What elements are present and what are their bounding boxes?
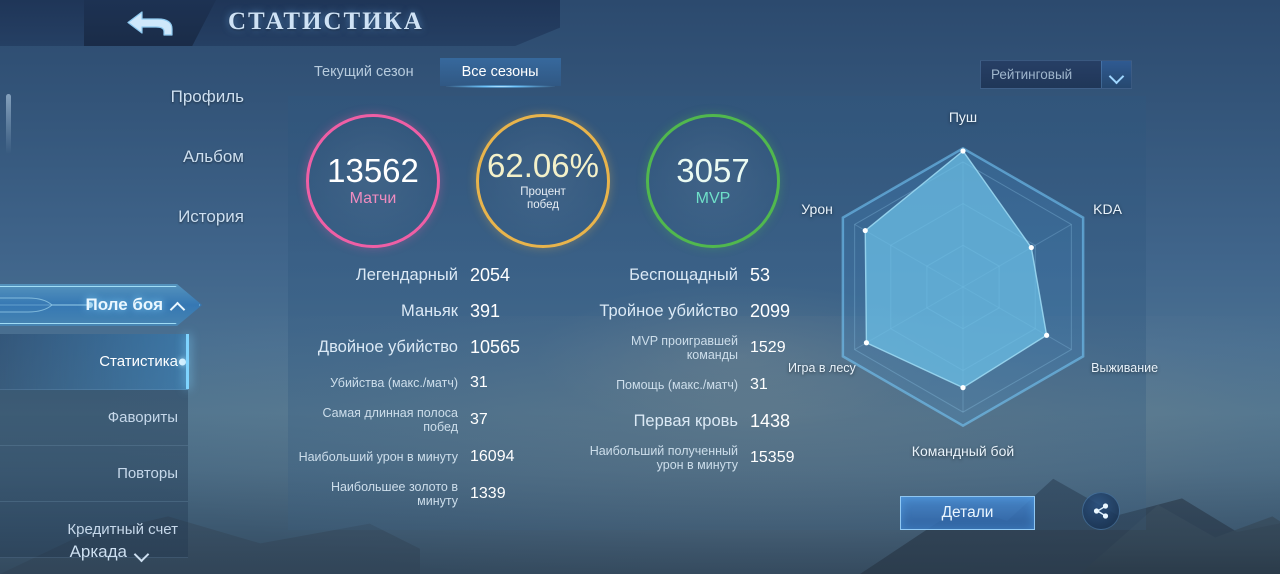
stat-value: 10565 (470, 337, 520, 358)
stat-label: Легендарный (298, 266, 470, 284)
stat-value: 16094 (470, 448, 515, 466)
stat-row: Маньяк391 (298, 298, 578, 324)
stat-label: Наибольший урон в минуту (298, 450, 470, 464)
sidebar-item-label: История (178, 207, 244, 227)
sidebar-subitem-statistics[interactable]: Статистика (0, 334, 188, 390)
stat-value: 1339 (470, 485, 506, 503)
sidebar-item-label: Профиль (171, 87, 244, 107)
summary-circles: 13562 Матчи 62.06% Процентпобед 3057 MVP (306, 114, 780, 248)
back-arrow-icon (122, 8, 178, 38)
stat-row: Двойное убийство10565 (298, 334, 578, 360)
stat-label: Наибольшее золото в минуту (298, 480, 470, 508)
game-mode-select[interactable]: Рейтинговый (980, 60, 1132, 89)
sidebar-item-label: Поле боя (85, 295, 163, 315)
stat-label: Убийства (макс./матч) (298, 376, 470, 390)
page-title: СТАТИСТИКА (228, 8, 424, 36)
season-tabs: Текущий сезон Все сезоны (292, 58, 561, 86)
stat-value: 53 (750, 265, 770, 286)
sidebar-item-profile[interactable]: Профиль (0, 82, 244, 112)
summary-circle-value: 13562 (327, 154, 419, 189)
sidebar-subitem-label: Фавориты (108, 409, 178, 426)
tab-all-seasons[interactable]: Все сезоны (440, 58, 561, 86)
radar-label-damage: Урон (788, 201, 833, 217)
summary-circle-label: MVP (696, 190, 731, 208)
sidebar-item-album[interactable]: Альбом (0, 142, 244, 172)
sidebar-item-label: Аркада (70, 542, 127, 562)
share-button[interactable] (1082, 492, 1120, 530)
chevron-down-icon (135, 546, 148, 559)
sidebar-subitem-label: Кредитный счет (67, 521, 178, 538)
stat-value: 2099 (750, 301, 790, 322)
sidebar-subitem-label: Повторы (117, 465, 178, 482)
stat-value: 2054 (470, 265, 510, 286)
chevron-down-icon[interactable] (1101, 61, 1131, 88)
share-nodes-icon (1091, 501, 1111, 521)
summary-circle-label: Матчи (350, 190, 397, 208)
summary-circle-matches: 13562 Матчи (306, 114, 440, 248)
stat-value: 31 (750, 376, 768, 394)
top-bar: СТАТИСТИКА (0, 0, 1280, 48)
stat-label: MVP проигравшей команды (578, 334, 750, 362)
sidebar-item-history[interactable]: История (0, 202, 244, 232)
stat-label: Маньяк (298, 302, 470, 320)
sidebar-submenu: Статистика Фавориты Повторы Кредитный сч… (0, 334, 188, 558)
stat-row: Убийства (макс./матч)31 (298, 370, 578, 396)
stat-value: 1529 (750, 339, 786, 357)
summary-circle-winrate: 62.06% Процентпобед (476, 114, 610, 248)
active-indicator-dot-icon (179, 358, 186, 365)
sidebar-item-arcade[interactable]: Аркада (0, 538, 244, 566)
radar-label-survival: Выживание (1091, 361, 1158, 375)
sidebar-subitem-label: Статистика (99, 353, 178, 370)
sidebar: Профиль Альбом История Поле боя Статисти… (0, 46, 262, 574)
sidebar-subitem-replays[interactable]: Повторы (0, 446, 188, 502)
summary-circle-mvp: 3057 MVP (646, 114, 780, 248)
summary-circle-value: 62.06% (487, 149, 599, 184)
stat-label: Двойное убийство (298, 338, 470, 356)
stat-label: Наибольший полученный урон в минуту (578, 444, 750, 472)
radar-label-jungling: Игра в лесу (788, 361, 835, 375)
stat-label: Тройное убийство (578, 302, 750, 320)
stat-row: Легендарный2054 (298, 262, 578, 288)
stat-row: Самая длинная полоса побед37 (298, 406, 578, 434)
stat-label: Первая кровь (578, 412, 750, 430)
radar-label-kda: KDA (1093, 201, 1122, 217)
stat-label: Помощь (макс./матч) (578, 378, 750, 392)
stat-row: Наибольшее золото в минуту1339 (298, 480, 578, 508)
radar-label-teamfight: Командный бой (912, 443, 1014, 459)
details-button-label: Детали (942, 504, 994, 522)
summary-circle-value: 3057 (676, 154, 749, 189)
stat-row: Наибольший урон в минуту16094 (298, 444, 578, 470)
radar-label-push: Пуш (949, 109, 977, 125)
sidebar-active-label-group: Поле боя (85, 284, 184, 326)
radar-svg (788, 104, 1146, 484)
chevron-up-icon (171, 299, 184, 312)
sidebar-item-battlefield[interactable]: Поле боя (0, 284, 202, 326)
stats-column-left: Легендарный2054Маньяк391Двойное убийство… (298, 262, 578, 518)
sidebar-item-label: Альбом (183, 147, 244, 167)
chevron-down-glyph (1110, 68, 1123, 81)
stat-label: Самая длинная полоса побед (298, 406, 470, 434)
tab-label: Текущий сезон (314, 64, 414, 80)
stats-columns: Легендарный2054Маньяк391Двойное убийство… (298, 262, 858, 518)
stat-value: 37 (470, 411, 488, 429)
stat-value: 31 (470, 374, 488, 392)
summary-circle-label: Процентпобед (520, 186, 566, 212)
stat-value: 391 (470, 301, 500, 322)
stat-value: 1438 (750, 411, 790, 432)
sidebar-subitem-favorites[interactable]: Фавориты (0, 390, 188, 446)
tab-label: Все сезоны (462, 64, 539, 80)
tab-current-season[interactable]: Текущий сезон (292, 58, 436, 86)
details-button[interactable]: Детали (900, 496, 1035, 530)
stat-label: Беспощадный (578, 266, 750, 284)
performance-radar-chart: Пуш KDA Выживание Командный бой Игра в л… (788, 104, 1146, 484)
statistics-panel: 13562 Матчи 62.06% Процентпобед 3057 MVP… (288, 96, 1146, 530)
game-mode-value: Рейтинговый (981, 67, 1101, 82)
